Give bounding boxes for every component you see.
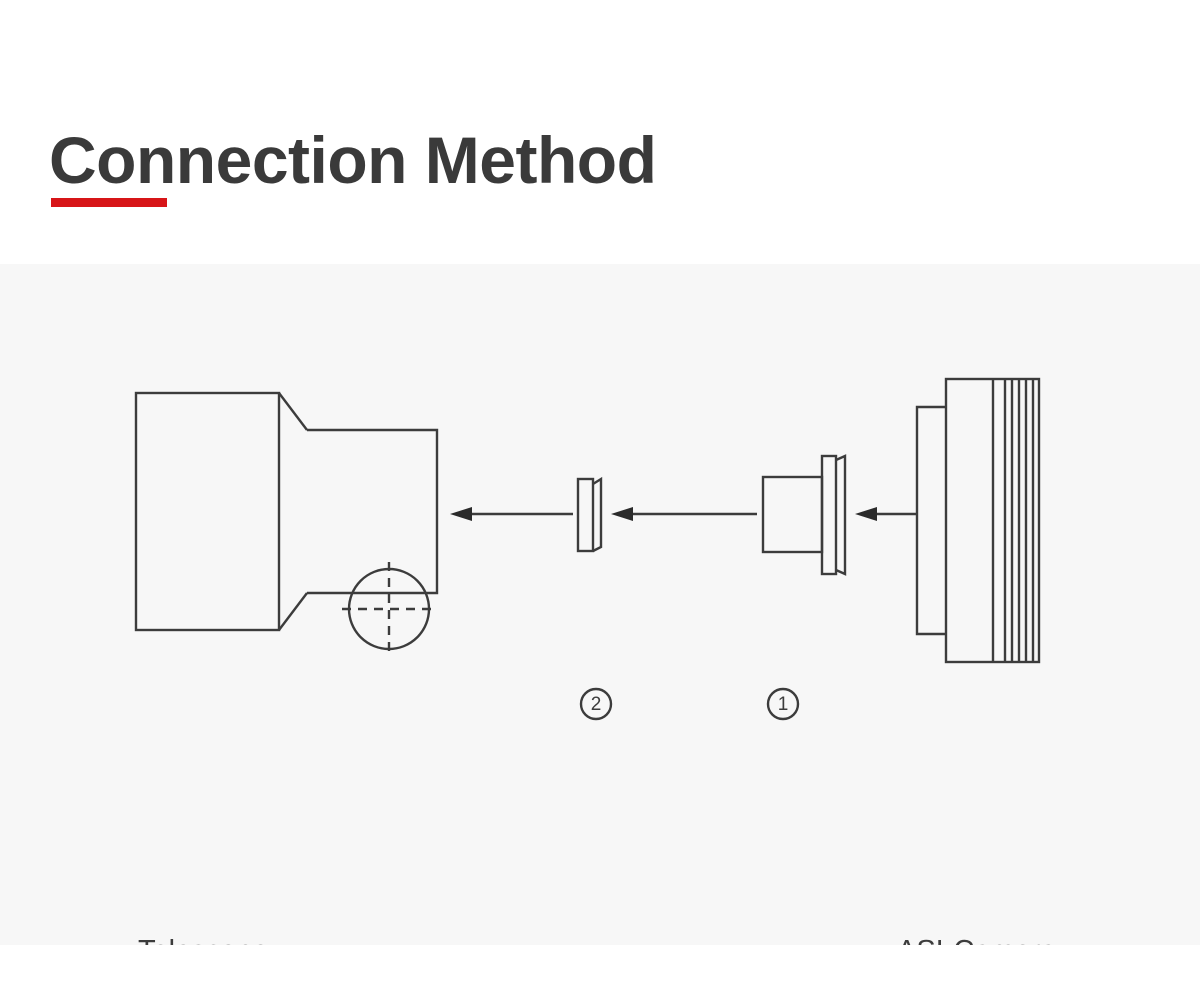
telescope-body	[136, 393, 279, 630]
callout-2-number: 2	[591, 694, 602, 715]
arrow-camera-to-nosepiece	[855, 507, 917, 521]
arrow-head	[855, 507, 877, 521]
callout-1-group: 1	[768, 689, 798, 719]
camera-front-collar	[917, 407, 946, 634]
callout-1-number: 1	[778, 694, 789, 715]
telescope-focuser-tube	[307, 430, 437, 593]
diagram-panel: 2 1	[0, 264, 1200, 945]
arrow-nosepiece-to-filter	[611, 507, 757, 521]
focuser-crosshair-group	[342, 562, 436, 656]
telescope-drawing	[136, 393, 437, 630]
product-connection-diagram-page: Connection Method	[0, 0, 1200, 984]
filter-front-plate	[578, 479, 593, 551]
filter-drawing	[578, 479, 601, 551]
connection-diagram-svg: 2 1	[0, 264, 1200, 945]
title-accent-rule	[51, 198, 167, 207]
callout-2-group: 2	[581, 689, 611, 719]
nosepiece-flange-back	[836, 456, 845, 574]
nosepiece-barrel	[763, 477, 822, 552]
filter-back-plate	[593, 479, 601, 551]
header-section: Connection Method	[0, 0, 1200, 264]
footer-whitespace	[0, 945, 1200, 984]
arrow-head	[450, 507, 472, 521]
nosepiece-drawing	[763, 456, 845, 574]
telescope-taper-top	[279, 393, 307, 430]
nosepiece-flange-front	[822, 456, 836, 574]
arrow-head	[611, 507, 633, 521]
telescope-taper-bottom	[279, 593, 307, 630]
page-title: Connection Method	[49, 121, 656, 199]
arrow-filter-to-telescope	[450, 507, 573, 521]
asi-camera-drawing	[917, 379, 1039, 662]
